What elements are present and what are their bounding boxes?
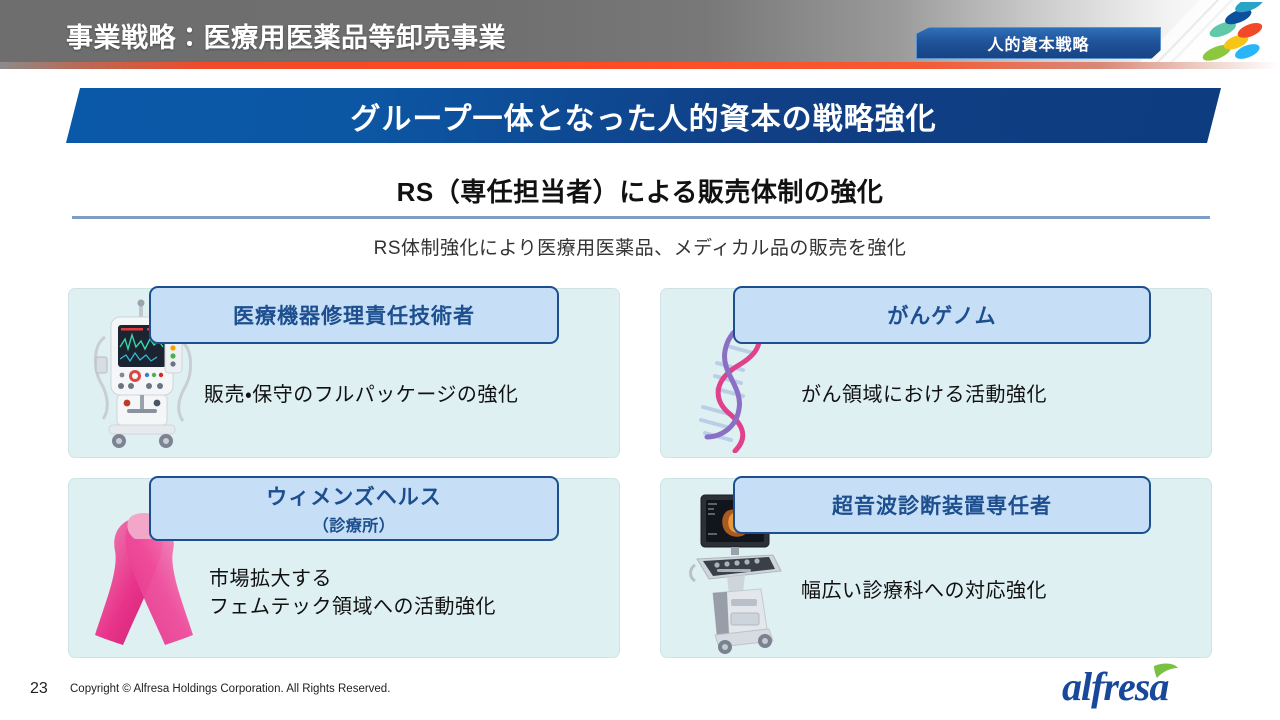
section-divider: [72, 216, 1210, 219]
card-description: 幅広い診療科への対応強化: [801, 577, 1047, 605]
card-medical-device-repair: 医療機器修理責任技術者 販売・保守のフルパッケージの強化: [68, 288, 620, 458]
status-badge: 人的資本戦略: [916, 27, 1161, 59]
card-subtitle: （診療所）: [313, 512, 396, 536]
card-cancer-genome: がんゲノム がん領域における活動強化: [660, 288, 1212, 458]
title-banner-label: グループ一体となった人的資本の戦略強化: [350, 94, 936, 138]
slide-root: 事業戦略：医療用医薬品等卸売事業 人的資本戦略 グループ一体となった人的資本の戦…: [0, 0, 1280, 720]
status-badge-label: 人的資本戦略: [987, 31, 1089, 55]
alfresa-leaves-icon: [1182, 2, 1278, 62]
section-subtitle: RS体制強化により医療用医薬品、メディカル品の販売を強化: [0, 233, 1280, 260]
card-title: 医療機器修理責任技術者: [233, 300, 475, 330]
card-title: 超音波診断装置専任者: [832, 490, 1052, 520]
card-title: ウィメンズヘルス: [266, 481, 442, 511]
page-number: 23: [30, 680, 48, 698]
card-description: がん領域における活動強化: [801, 381, 1047, 409]
card-description-line2: フェムテック領域への活動強化: [209, 593, 496, 621]
alfresa-logo: alfresa: [1058, 662, 1228, 710]
header-accent-line: [0, 62, 1280, 69]
card-title: がんゲノム: [887, 300, 996, 330]
card-header-cancer-genome: がんゲノム: [733, 286, 1151, 344]
page-title: 事業戦略：医療用医薬品等卸売事業: [66, 16, 506, 55]
card-description-line1: 市場拡大する: [209, 565, 496, 593]
card-header-womens-health: ウィメンズヘルス （診療所）: [149, 476, 559, 541]
card-description: 市場拡大する フェムテック領域への活動強化: [209, 565, 496, 622]
svg-text:alfresa: alfresa: [1062, 664, 1169, 709]
copyright-text: Copyright © Alfresa Holdings Corporation…: [70, 683, 390, 695]
card-ultrasound-specialist: 超音波診断装置専任者 幅広い診療科への対応強化: [660, 478, 1212, 658]
section-heading: RS（専任担当者）による販売体制の強化: [0, 172, 1280, 209]
card-description: 販売・保守のフルパッケージの強化: [204, 381, 518, 409]
title-banner: グループ一体となった人的資本の戦略強化: [66, 88, 1221, 143]
card-womens-health: ウィメンズヘルス （診療所） 市場拡大する フェムテック領域への活動強化: [68, 478, 620, 658]
card-header-medical-device-repair: 医療機器修理責任技術者: [149, 286, 559, 344]
card-header-ultrasound-specialist: 超音波診断装置専任者: [733, 476, 1151, 534]
